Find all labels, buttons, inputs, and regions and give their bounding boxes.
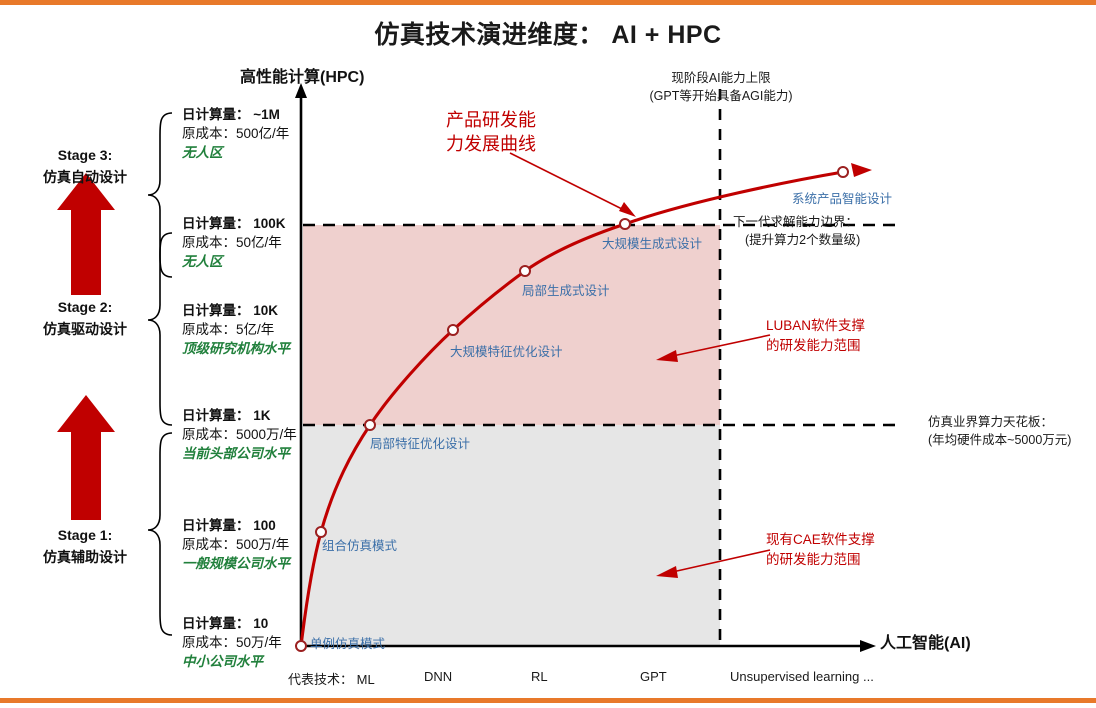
stage-3-cn: 仿真自动设计	[10, 167, 160, 189]
curve-point-marker	[620, 219, 630, 229]
tier-level: 无人区	[182, 143, 289, 162]
tier-compute: 日计算量： 10	[182, 614, 282, 633]
stage-3-name: Stage 3:	[10, 145, 160, 167]
ceiling-line-2: (年均硬件成本~5000万元)	[928, 431, 1071, 449]
tier-level: 一般规模公司水平	[182, 554, 290, 573]
tier-block-10k: 日计算量： 10K 原成本：5亿/年 顶级研究机构水平	[182, 301, 290, 358]
stage-2-cn: 仿真驱动设计	[10, 319, 160, 341]
tech-axis-item-dnn: DNN	[424, 669, 452, 684]
stage-2-name: Stage 2:	[10, 297, 160, 319]
curve-point-marker	[365, 420, 375, 430]
annotation-cae-range: 现有CAE软件支撑 的研发能力范围	[766, 530, 875, 569]
tech-axis-item-gpt: GPT	[640, 669, 667, 684]
x-axis-title: 人工智能(AI)	[880, 629, 971, 653]
curve-title: 产品研发能 力发展曲线	[446, 108, 536, 157]
curve-title-leader	[510, 153, 636, 217]
point-label-large-scale-feature-opt: 大规模特征优化设计	[450, 341, 563, 360]
up-arrow-lower	[57, 395, 115, 520]
tier-compute: 日计算量： 100	[182, 516, 290, 535]
tier-block-100k: 日计算量： 100K 原成本：50亿/年 无人区	[182, 214, 286, 271]
tier-compute: 日计算量： ~1M	[182, 105, 289, 124]
tier-level: 中小公司水平	[182, 652, 282, 671]
tier-compute: 日计算量： 10K	[182, 301, 290, 320]
tier-level: 当前头部公司水平	[182, 444, 297, 463]
tech-axis-item-unsupervised: Unsupervised learning ...	[730, 669, 874, 684]
curve-arrowhead	[851, 163, 872, 177]
tier-level: 无人区	[182, 252, 286, 271]
curve-point-marker	[296, 641, 306, 651]
point-label-system-product-intelligent: 系统产品智能设计	[792, 188, 892, 207]
tier-cost: 原成本：50万/年	[182, 633, 282, 652]
tier-cost: 原成本：500亿/年	[182, 124, 289, 143]
ceiling-line-1: 仿真业界算力天花板：	[928, 413, 1071, 431]
stage-1-name: Stage 1:	[10, 525, 160, 547]
tier-cost: 原成本：5000万/年	[182, 425, 297, 444]
next-gen-line-1: 下一代求解能力边界：	[733, 213, 860, 231]
x-axis-arrowhead	[860, 640, 876, 652]
curve-title-line-2: 力发展曲线	[446, 132, 536, 156]
region-luban	[303, 225, 720, 425]
annotation-luban-range: LUBAN软件支撑 的研发能力范围	[766, 316, 865, 355]
next-gen-line-2: (提升算力2个数量级)	[733, 231, 860, 249]
tech-axis-item-rl: RL	[531, 669, 548, 684]
stage-1-cn: 仿真辅助设计	[10, 547, 160, 569]
curve-point-marker	[520, 266, 530, 276]
tech-axis-prefix: 代表技术： ML	[288, 669, 375, 688]
point-label-combined-sim: 组合仿真模式	[322, 535, 397, 554]
ai-limit-line-2: (GPT等开始具备AGI能力)	[606, 87, 836, 105]
curve-point-marker	[448, 325, 458, 335]
tier-compute: 日计算量： 100K	[182, 214, 286, 233]
point-label-local-feature-opt: 局部特征优化设计	[370, 433, 470, 452]
luban-line-2: 的研发能力范围	[766, 336, 865, 356]
luban-line-1: LUBAN软件支撑	[766, 316, 865, 336]
annotation-ai-limit: 现阶段AI能力上限 (GPT等开始具备AGI能力)	[606, 69, 836, 105]
cae-line-2: 的研发能力范围	[766, 550, 875, 570]
tier-block-1m: 日计算量： ~1M 原成本：500亿/年 无人区	[182, 105, 289, 162]
ai-limit-line-1: 现阶段AI能力上限	[606, 69, 836, 87]
stage-label-2: Stage 2: 仿真驱动设计	[10, 297, 160, 340]
tier-cost: 原成本：50亿/年	[182, 233, 286, 252]
tier-compute: 日计算量： 1K	[182, 406, 297, 425]
stage-label-1: Stage 1: 仿真辅助设计	[10, 525, 160, 568]
curve-point-marker	[838, 167, 848, 177]
cae-line-1: 现有CAE软件支撑	[766, 530, 875, 550]
annotation-ceiling: 仿真业界算力天花板： (年均硬件成本~5000万元)	[928, 413, 1071, 449]
stage-label-3: Stage 3: 仿真自动设计	[10, 145, 160, 188]
tier-cost: 原成本：500万/年	[182, 535, 290, 554]
slide-canvas: 仿真技术演进维度： AI + HPC	[0, 0, 1096, 703]
tier-block-1k: 日计算量： 1K 原成本：5000万/年 当前头部公司水平	[182, 406, 297, 463]
curve-title-line-1: 产品研发能	[446, 108, 536, 132]
y-axis-title: 高性能计算(HPC)	[240, 63, 364, 87]
point-label-single-case: 单例仿真模式	[310, 633, 385, 652]
point-label-local-generative: 局部生成式设计	[522, 280, 610, 299]
tier-cost: 原成本：5亿/年	[182, 320, 290, 339]
tier-block-10: 日计算量： 10 原成本：50万/年 中小公司水平	[182, 614, 282, 671]
annotation-next-gen: 下一代求解能力边界： (提升算力2个数量级)	[733, 213, 860, 249]
up-arrow-upper	[57, 173, 115, 295]
tier-block-100: 日计算量： 100 原成本：500万/年 一般规模公司水平	[182, 516, 290, 573]
tier-level: 顶级研究机构水平	[182, 339, 290, 358]
progression-arrows	[57, 173, 115, 520]
point-label-large-scale-generative: 大规模生成式设计	[602, 233, 702, 252]
